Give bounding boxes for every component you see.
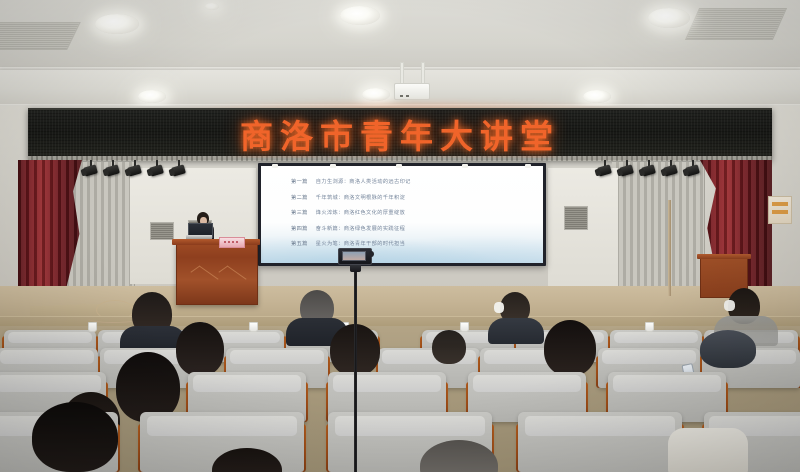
vertical-blinds-right — [612, 162, 705, 290]
slide-line: 第五篇 星火为笔：商洛青年干部的时代担当 — [291, 240, 411, 247]
auditorium-photo: 商洛市青年大讲堂 第一篇 自力生浏源：商洛人类活动的远古印记 第二篇 千年筑城：… — [0, 0, 800, 472]
audience-person — [432, 330, 466, 364]
audience-person — [668, 428, 748, 472]
wireless-access-point-icon — [394, 83, 430, 100]
downlight-icon — [648, 8, 690, 28]
audience-person — [488, 318, 544, 344]
paper-cup — [645, 322, 654, 332]
podium-top — [172, 239, 260, 245]
tripod-stand — [354, 262, 357, 472]
led-banner: 商洛市青年大讲堂 — [28, 108, 772, 160]
camera-knob — [369, 251, 374, 257]
paper-cup — [460, 322, 469, 332]
wall-panel-right — [548, 168, 618, 286]
downlight-icon — [340, 6, 380, 25]
slide-line: 第四篇 奋斗新篇：商洛绿色发展的实践征程 — [291, 225, 411, 232]
paper-cup — [249, 322, 258, 332]
downlight-icon — [205, 3, 219, 10]
screen-clip — [525, 164, 531, 168]
led-banner-text: 商洛市青年大讲堂 — [240, 110, 560, 158]
audience-person-cap — [700, 330, 756, 368]
ceiling-vent-icon — [685, 8, 787, 40]
slide-line: 第三篇 烽火淬炼：商洛红色文化的厚重绽放 — [291, 209, 411, 216]
screen-clip — [462, 164, 468, 168]
screen-clip — [396, 164, 402, 168]
audience-person — [32, 402, 118, 472]
slide-line: 第一篇 自力生浏源：商洛人类活动的远古印记 — [291, 178, 411, 185]
audience-seat — [518, 412, 682, 472]
wall-sign — [768, 196, 792, 224]
ceiling-vent-icon — [0, 22, 81, 50]
screen-clip — [330, 164, 336, 168]
slide-content: 第一篇 自力生浏源：商洛人类活动的远古印记 第二篇 千年筑城：商洛文明根脉的千年… — [291, 178, 411, 247]
slide-line: 第二篇 千年筑城：商洛文明根脉的千年积淀 — [291, 194, 411, 201]
side-table-top — [697, 254, 751, 259]
audience-person — [544, 320, 596, 376]
paper-cup — [88, 322, 97, 332]
nameplate — [219, 237, 245, 248]
audience-person — [176, 322, 224, 376]
support-pole — [668, 200, 671, 296]
downlight-icon — [95, 14, 139, 34]
projection-screen: 第一篇 自力生浏源：商洛人类活动的远古印记 第二篇 千年筑城：商洛文明根脉的千年… — [261, 166, 543, 263]
screen-clip — [272, 164, 278, 168]
camera-screen — [342, 251, 366, 261]
podium — [176, 243, 258, 305]
tripod-joint — [350, 264, 361, 272]
